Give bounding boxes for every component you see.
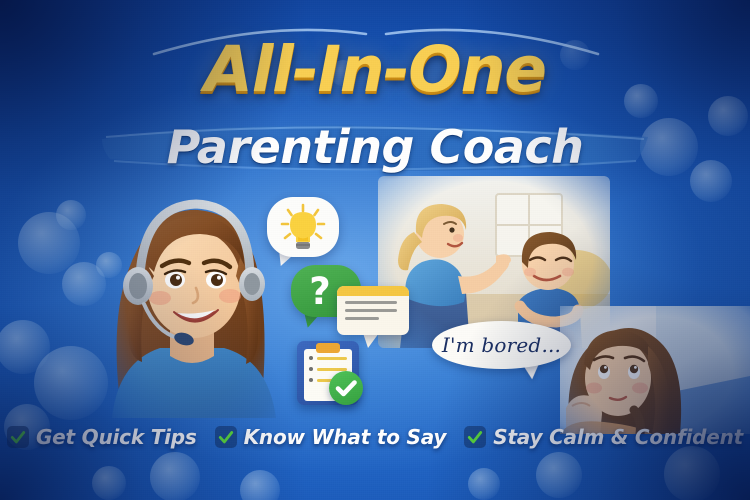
poster-canvas: ? I'm bored... All-In-One <box>0 0 750 500</box>
list-item-label: Get Quick Tips <box>36 425 197 449</box>
list-item-label: Know What to Say <box>244 425 447 449</box>
bullet-dot <box>309 378 313 382</box>
chat-line <box>345 301 397 304</box>
list-item: Know What to Say <box>215 425 447 449</box>
lightbulb-icon <box>267 197 339 257</box>
chat-bubble-header <box>337 286 409 296</box>
bullet-dot <box>309 356 313 360</box>
list-item: Stay Calm & Confident <box>464 425 743 449</box>
checklist-row <box>309 356 352 360</box>
bullet-bar <box>317 357 347 360</box>
list-item-label: Stay Calm & Confident <box>493 425 743 449</box>
list-item: Get Quick Tips <box>7 425 197 449</box>
clipboard-clip <box>316 343 340 353</box>
check-icon <box>215 426 237 448</box>
coach-woman-with-headset <box>108 180 278 418</box>
check-icon <box>7 426 29 448</box>
scene-bored-girl <box>560 306 750 434</box>
check-icon <box>464 426 486 448</box>
chat-line <box>345 309 397 312</box>
feature-bullet-list: Get Quick Tips Know What to Say Stay Cal… <box>0 421 750 453</box>
bullet-dot <box>309 367 313 371</box>
chat-line <box>345 317 379 320</box>
chat-bubble-icon <box>337 286 409 335</box>
lightbulb-bubble <box>267 197 339 257</box>
page-subtitle: Parenting Coach <box>0 124 750 170</box>
page-title: All-In-One <box>0 38 750 101</box>
green-check-circle-icon <box>329 371 363 405</box>
speech-bubble-text: I'm bored... <box>432 321 571 369</box>
chat-bubble-tail <box>363 333 379 348</box>
